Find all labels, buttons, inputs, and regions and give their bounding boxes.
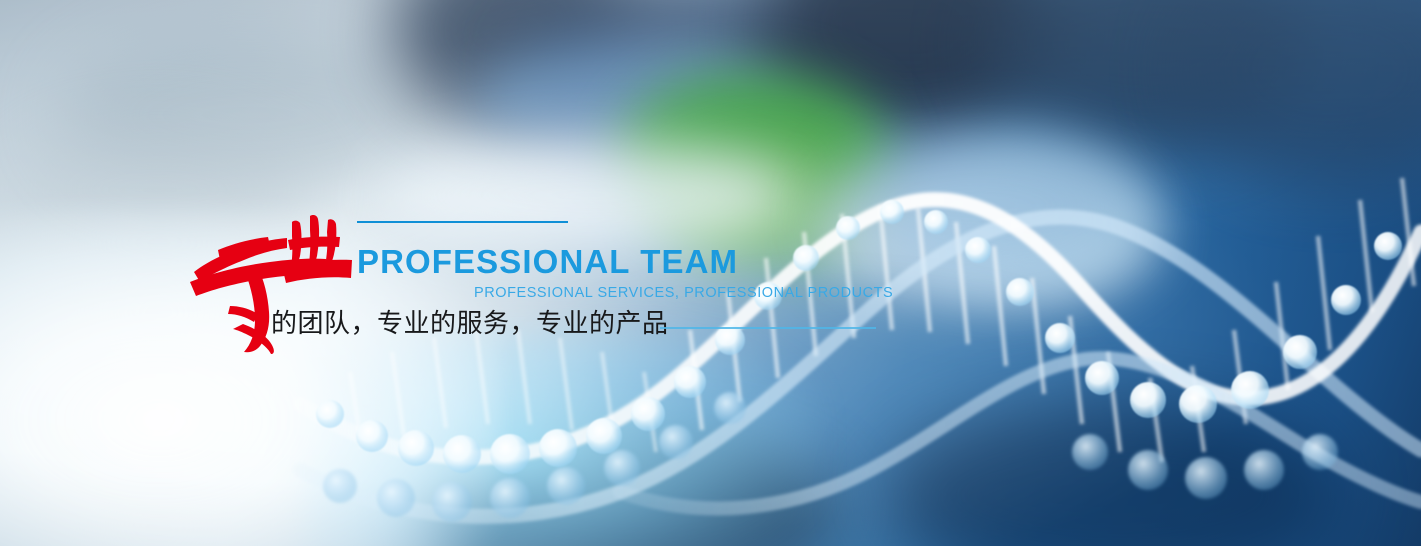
decorative-rule-bottom	[660, 327, 876, 329]
tagline-chinese: 的团队，专业的服务，专业的产品	[271, 307, 669, 339]
banner-content: PROFESSIONAL TEAM PROFESSIONAL SERVICES,…	[0, 0, 1421, 546]
hero-banner: PROFESSIONAL TEAM PROFESSIONAL SERVICES,…	[0, 0, 1421, 546]
page-title: PROFESSIONAL TEAM	[357, 243, 738, 281]
page-subtitle: PROFESSIONAL SERVICES, PROFESSIONAL PROD…	[474, 284, 893, 302]
decorative-rule-top	[357, 221, 568, 223]
